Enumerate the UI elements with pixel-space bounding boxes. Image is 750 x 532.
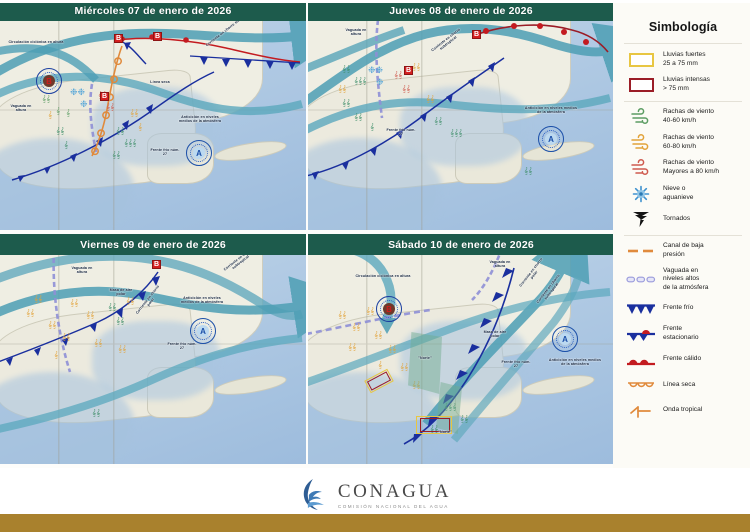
anno-midlevel-anticyclone: Anticiclón en niveles medios de la atmós… [524, 106, 578, 115]
legend-line-1: Canal de baja [663, 242, 704, 251]
low-box-marker: B [404, 66, 413, 75]
legend-item-label: Línea seca [663, 381, 695, 390]
low-pressure-center: B [376, 296, 402, 322]
legend-line-1: Nieve o [663, 185, 693, 194]
high-pressure-center: A [552, 326, 578, 352]
anno-cold-front-number: Frente frío núm. 27 [384, 128, 418, 137]
low-box-marker: B [114, 34, 123, 43]
rain-cluster: 𝄞𝄞 [56, 128, 64, 135]
legend-line-2: estacionario [663, 334, 699, 343]
brand-subtitle: COMISIÓN NACIONAL DEL AGUA [338, 504, 451, 509]
legend-item-label: Lluvias intensas > 75 mm [663, 76, 710, 94]
rain-cluster: 𝄞𝄞𝄞 [354, 78, 366, 85]
anno-upper-trough: Vaguada en altura [484, 260, 516, 269]
wind-cluster: 𝄞𝄞 [366, 308, 374, 315]
wind-cluster: 𝄞𝄞 [412, 64, 420, 71]
anno-polar-air-mass: Masa de aire polar [480, 330, 510, 339]
wind-cluster: 𝄞𝄞 [130, 110, 138, 117]
legend-item-label: Frente cálido [663, 355, 701, 364]
legend-line-1: Línea seca [663, 381, 695, 390]
low-box-marker: B [153, 32, 162, 41]
legend-line-2: niveles altos [663, 275, 708, 284]
anno-upper-trough: Vaguada en altura [66, 266, 98, 275]
wind-cluster: 𝄞𝄞 [86, 312, 94, 319]
legend-panel: Simbología Lluvias fuertes 25 a 75 mm Ll… [613, 0, 750, 468]
legend-item-linea-seca: Línea seca [626, 375, 744, 395]
panel-title-wednesday: Miércoles 07 de enero de 2026 [0, 0, 306, 21]
rain-cluster: 𝄞𝄞 [92, 410, 100, 417]
rain-cluster: 𝄞𝄞 [460, 416, 468, 423]
legend-item-label: Rachas de viento Mayores a 80 km/h [663, 159, 719, 177]
wind-cluster: 𝄞𝄞 [352, 324, 360, 331]
wind-cluster: 𝄞 [54, 352, 58, 359]
wind-cluster: 𝄞 [378, 362, 382, 369]
legend-divider [624, 43, 742, 44]
rain-cluster: 𝄞𝄞 [342, 100, 350, 107]
legend-line-2: aguanieve [663, 194, 693, 203]
wind-cluster: 𝄞 [56, 108, 60, 115]
gold-accent-bar [0, 514, 750, 532]
legend-line-1: Frente [663, 325, 699, 334]
snow-icon [626, 184, 656, 204]
legend-item-canal-baja-presion: Canal de baja presión [626, 241, 744, 261]
legend-item-nieve: Nieve o aguanieve [626, 184, 744, 204]
rain-cluster: 𝄞𝄞 [112, 152, 120, 159]
anno-cold-front-number: Frente frío núm. 27 [166, 342, 198, 351]
wind-cluster: 𝄞𝄞 [402, 86, 410, 93]
rain-cluster: 𝄞𝄞 [108, 304, 116, 311]
snow-cluster: ❉❉ [70, 88, 85, 97]
panel-title-friday: Viernes 09 de enero de 2026 [0, 234, 306, 255]
norte-zone-gulf [408, 332, 442, 394]
snow-cluster: ❉ [376, 78, 384, 87]
legend-item-frente-estacionario: Frente estacionario [626, 324, 744, 344]
legend-line-2: presión [663, 251, 704, 260]
rain-box-yellow-icon [626, 50, 656, 70]
wind-cluster: 𝄞𝄞 [338, 86, 346, 93]
legend-line-1: Lluvias fuertes [663, 51, 706, 60]
rain-box-red-icon [626, 75, 656, 95]
legend-item-lluvias-fuertes: Lluvias fuertes 25 a 75 mm [626, 50, 744, 70]
panel-title-thursday: Jueves 08 de enero de 2026 [308, 0, 614, 21]
low-pressure-label: B [386, 305, 392, 314]
low-pressure-center: B [36, 68, 62, 94]
legend-line-3: de la atmósfera [663, 284, 708, 293]
stationary-front-icon [626, 324, 656, 344]
legend-line-2: 40-60 km/h [663, 117, 714, 126]
anno-midlevel-anticyclone: Anticiclón en niveles medios de la atmós… [174, 115, 226, 124]
dryline-icon [626, 375, 656, 395]
high-pressure-center: A [190, 318, 216, 344]
low-pressure-channel-icon [626, 241, 656, 261]
wind-cluster: 𝄞𝄞 [400, 364, 408, 371]
wind-cluster: 𝄞𝄞 [348, 344, 356, 351]
high-pressure-label: A [562, 335, 568, 344]
anno-cyclonic-circulation: Circulación ciclónica en altura [5, 40, 67, 44]
high-pressure-label: A [196, 149, 202, 158]
wind-cluster: 𝄞𝄞 [106, 104, 114, 111]
wind-swirl-green-icon [626, 107, 656, 127]
low-box-marker: B [100, 92, 109, 101]
legend-item-label: Onda tropical [663, 406, 702, 415]
rain-cluster: 𝄞 [370, 124, 374, 131]
wind-cluster: 𝄞𝄞 [48, 322, 56, 329]
high-pressure-label: A [200, 327, 206, 336]
wind-cluster: 𝄞𝄞 [34, 296, 42, 303]
anno-cold-front-number: Frente frío núm. 27 [148, 148, 182, 157]
legend-item-vaguada-niveles-altos: Vaguada en niveles altos de la atmósfera [626, 267, 744, 294]
wind-cluster: 𝄞𝄞 [394, 72, 402, 79]
legend-title: Simbología [622, 20, 744, 34]
conagua-brand: CONAGUA COMISIÓN NACIONAL DEL AGUA [299, 478, 451, 512]
anno-cold-front-number: Frente frío núm. 27 [500, 360, 532, 369]
low-box-marker: B [472, 30, 481, 39]
rain-cluster: 𝄞𝄞 [354, 114, 362, 121]
high-pressure-center: A [186, 140, 212, 166]
warm-front-icon [626, 350, 656, 370]
legend-line-1: Vaguada en [663, 267, 708, 276]
legend-line-2: 25 a 75 mm [663, 60, 706, 69]
cold-front-icon [626, 299, 656, 319]
wind-swirl-orange-icon [626, 133, 656, 153]
legend-line-1: Frente cálido [663, 355, 701, 364]
upper-trough-icon [626, 270, 656, 290]
wind-cluster: 𝄞𝄞 [94, 340, 102, 347]
wind-cluster: 𝄞𝄞 [26, 310, 34, 317]
wind-cluster: 𝄞𝄞 [388, 346, 396, 353]
legend-line-2: > 75 mm [663, 85, 710, 94]
low-pressure-label: B [46, 77, 52, 86]
snow-cluster: ❉❉ [368, 66, 383, 75]
wind-cluster: 𝄞𝄞 [118, 346, 126, 353]
legend-item-tornados: Tornados [626, 209, 744, 229]
legend-line-1: Rachas de viento [663, 134, 714, 143]
legend-item-label: Frente frío [663, 304, 693, 313]
legend-item-label: Tornados [663, 215, 690, 224]
rain-cluster: 𝄞 [64, 142, 68, 149]
legend-line-1: Frente frío [663, 304, 693, 313]
legend-item-label: Lluvias fuertes 25 a 75 mm [663, 51, 706, 69]
wind-cluster: 𝄞𝄞 [70, 300, 78, 307]
legend-divider [624, 235, 742, 236]
footer: CONAGUA COMISIÓN NACIONAL DEL AGUA [0, 468, 750, 532]
map-basemap-sat: 𝄞𝄞 𝄞𝄞 𝄞𝄞 𝄞𝄞 𝄞𝄞 𝄞𝄞 𝄞𝄞 𝄞 𝄞𝄞 𝄞𝄞𝄞 𝄞𝄞 𝄞𝄞 B [308, 234, 614, 464]
legend-item-label: Frente estacionario [663, 325, 699, 343]
map-basemap-thu: 𝄞𝄞 𝄞𝄞𝄞 𝄞𝄞 ❉❉ ❉ 𝄞𝄞 𝄞𝄞 𝄞𝄞 𝄞𝄞 𝄞𝄞 𝄞 𝄞𝄞 𝄞𝄞 𝄞𝄞… [308, 0, 614, 230]
wind-cluster: 𝄞𝄞 [126, 298, 134, 305]
anno-polar-air-mass: Masa de aire polar [106, 288, 136, 297]
conagua-logo-icon [299, 478, 329, 512]
snow-cluster: ❉ [80, 100, 88, 109]
low-box-marker: B [152, 260, 161, 269]
legend-line-1: Onda tropical [663, 406, 702, 415]
wind-cluster: 𝄞𝄞 [374, 332, 382, 339]
legend-line-1: Tornados [663, 215, 690, 224]
legend-item-rachas-mayores-80: Rachas de viento Mayores a 80 km/h [626, 158, 744, 178]
rain-cluster: 𝄞𝄞 [116, 128, 124, 135]
wind-cluster: 𝄞 [48, 112, 52, 119]
legend-item-onda-tropical: Onda tropical [626, 401, 744, 421]
high-pressure-center: A [538, 126, 564, 152]
anno-cyclonic-circulation: Circulación ciclónica en altura [352, 274, 414, 278]
legend-divider [624, 101, 742, 102]
legend-item-rachas-60-80: Rachas de viento 60-80 km/h [626, 133, 744, 153]
map-panel-grid: 𝄞𝄞 𝄞 𝄞 ❉❉ ❉ 𝄞𝄞 𝄞𝄞 𝄞𝄞 𝄞 𝄞𝄞 𝄞𝄞𝄞 𝄞𝄞 𝄞𝄞 𝄞 𝄞 [0, 0, 613, 468]
rain-cluster: 𝄞𝄞 [116, 318, 124, 325]
legend-item-lluvias-intensas: Lluvias intensas > 75 mm [626, 75, 744, 95]
map-panel-wednesday[interactable]: 𝄞𝄞 𝄞 𝄞 ❉❉ ❉ 𝄞𝄞 𝄞𝄞 𝄞𝄞 𝄞 𝄞𝄞 𝄞𝄞𝄞 𝄞𝄞 𝄞𝄞 𝄞 𝄞 [0, 0, 306, 230]
rain-cluster: 𝄞𝄞𝄞 [450, 130, 462, 137]
rain-cluster: 𝄞𝄞𝄞 [124, 140, 136, 147]
legend-line-2: 60-80 km/h [663, 143, 714, 152]
anno-upper-trough: Vaguada en altura [340, 28, 372, 37]
rain-cluster: 𝄞𝄞 [434, 118, 442, 125]
anno-dryline: Línea seca [148, 80, 172, 84]
anno-norte-tehuantepec: "Norte" [434, 430, 456, 434]
wind-cluster: 𝄞 [138, 124, 142, 131]
legend-item-rachas-40-60: Rachas de viento 40-60 km/h [626, 107, 744, 127]
rain-cluster: 𝄞𝄞 [524, 168, 532, 175]
legend-item-label: Rachas de viento 60-80 km/h [663, 134, 714, 152]
anno-norte-gulf: "Norte" [414, 356, 436, 360]
top-edge [0, 0, 750, 3]
wind-swirl-red-icon [626, 158, 656, 178]
map-panel-saturday[interactable]: 𝄞𝄞 𝄞𝄞 𝄞𝄞 𝄞𝄞 𝄞𝄞 𝄞𝄞 𝄞𝄞 𝄞 𝄞𝄞 𝄞𝄞𝄞 𝄞𝄞 𝄞𝄞 B [308, 234, 614, 464]
map-panel-friday[interactable]: 𝄞𝄞 𝄞𝄞 𝄞𝄞 𝄞𝄞 𝄞𝄞 𝄞𝄞 𝄞𝄞 𝄞 𝄞𝄞 𝄞𝄞 𝄞𝄞 𝄞𝄞 𝄞𝄞 A [0, 234, 306, 464]
legend-line-2: Mayores a 80 km/h [663, 168, 719, 177]
wind-cluster: 𝄞 [66, 110, 70, 117]
map-basemap-wed: 𝄞𝄞 𝄞 𝄞 ❉❉ ❉ 𝄞𝄞 𝄞𝄞 𝄞𝄞 𝄞 𝄞𝄞 𝄞𝄞𝄞 𝄞𝄞 𝄞𝄞 𝄞 𝄞 [0, 0, 306, 230]
tornado-icon [626, 209, 656, 229]
legend-line-1: Rachas de viento [663, 108, 714, 117]
legend-line-1: Rachas de viento [663, 159, 719, 168]
brand-name: CONAGUA [338, 481, 451, 503]
legend-item-frente-frio: Frente frío [626, 299, 744, 319]
wind-cluster: 𝄞𝄞 [338, 312, 346, 319]
conagua-wordmark: CONAGUA COMISIÓN NACIONAL DEL AGUA [338, 481, 451, 509]
map-panel-thursday[interactable]: 𝄞𝄞 𝄞𝄞𝄞 𝄞𝄞 ❉❉ ❉ 𝄞𝄞 𝄞𝄞 𝄞𝄞 𝄞𝄞 𝄞𝄞 𝄞 𝄞𝄞 𝄞𝄞 𝄞𝄞… [308, 0, 614, 230]
anno-upper-trough: Vaguada en altura [6, 104, 36, 113]
map-basemap-fri: 𝄞𝄞 𝄞𝄞 𝄞𝄞 𝄞𝄞 𝄞𝄞 𝄞𝄞 𝄞𝄞 𝄞 𝄞𝄞 𝄞𝄞 𝄞𝄞 𝄞𝄞 𝄞𝄞 A [0, 234, 306, 464]
rain-cluster: 𝄞𝄞 [342, 66, 350, 73]
legend-item-frente-calido: Frente cálido [626, 350, 744, 370]
wind-cluster: 𝄞𝄞 [42, 96, 50, 103]
panel-title-saturday: Sábado 10 de enero de 2026 [308, 234, 614, 255]
legend-item-label: Canal de baja presión [663, 242, 704, 260]
wind-cluster: 𝄞𝄞 [426, 96, 434, 103]
legend-item-label: Nieve o aguanieve [663, 185, 693, 203]
legend-item-label: Rachas de viento 40-60 km/h [663, 108, 714, 126]
tropical-wave-icon [626, 401, 656, 421]
legend-item-label: Vaguada en niveles altos de la atmósfera [663, 267, 708, 294]
wind-cluster: 𝄞𝄞 [62, 334, 70, 341]
legend-line-1: Lluvias intensas [663, 76, 710, 85]
anno-midlevel-anticyclone: Anticiclón en niveles medios de la atmós… [176, 296, 228, 305]
anno-midlevel-anticyclone: Anticiclón en niveles medios de la atmós… [548, 358, 602, 367]
weather-forecast-infographic: 𝄞𝄞 𝄞 𝄞 ❉❉ ❉ 𝄞𝄞 𝄞𝄞 𝄞𝄞 𝄞 𝄞𝄞 𝄞𝄞𝄞 𝄞𝄞 𝄞𝄞 𝄞 𝄞 [0, 0, 750, 532]
high-pressure-label: A [548, 135, 554, 144]
